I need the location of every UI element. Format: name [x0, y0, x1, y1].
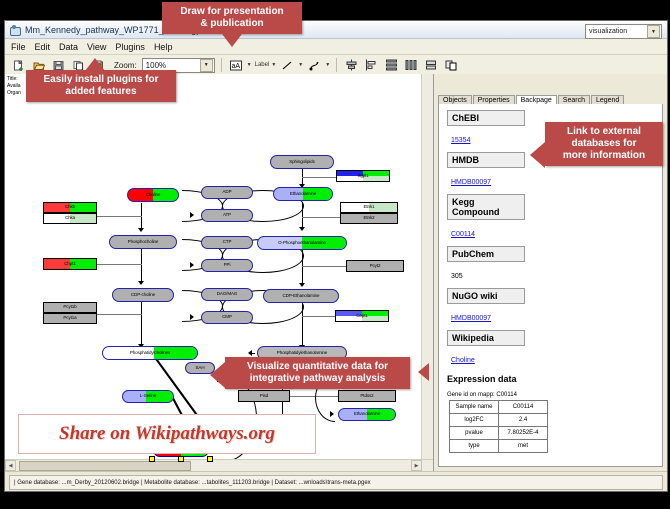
canvas-horizontal-scrollbar[interactable]: ◀ ▶ — [5, 459, 433, 471]
arrow-down-icon — [138, 228, 144, 232]
section-header-chebi: ChEBI — [447, 110, 525, 126]
node-label: ATP — [223, 213, 231, 218]
callout-visualize-line1: Visualize quantitative data for — [232, 361, 403, 373]
callout-share-text: Share on Wikipathways.org — [59, 423, 275, 445]
pathway-organism-label: Organ — [7, 90, 21, 97]
node-label: CTP — [223, 240, 232, 245]
node-pcyt1b[interactable]: Pcyt1b — [43, 302, 97, 313]
line-tool-dropdown[interactable]: ▼ — [279, 57, 303, 74]
node-label: Ethanolamine — [290, 192, 316, 197]
node-label: CDP-choline — [131, 293, 155, 298]
distribute-vertical-icon[interactable] — [383, 57, 400, 74]
node-ptdss2[interactable]: Ptdss2 — [338, 390, 396, 402]
cell-value: 7.80252E-4 — [499, 427, 548, 440]
same-width-icon[interactable] — [423, 57, 440, 74]
callout-draw-line2: & publication — [169, 18, 295, 30]
scroll-left-icon[interactable]: ◀ — [5, 460, 16, 471]
node-label: Etnk2 — [363, 216, 374, 221]
arrow-right-icon — [190, 262, 194, 268]
node-etnk1[interactable]: Etnk1 — [340, 202, 398, 213]
node-o-phosphoethanolamine[interactable]: O-Phosphoethanolamine — [257, 236, 347, 250]
table-row: log2FC 2.4 — [450, 414, 548, 427]
node-ethanolamine-right[interactable]: Ethanolamine — [338, 408, 396, 421]
edge-phosphocholine-spine — [141, 249, 142, 283]
chevron-down-icon[interactable]: ▼ — [647, 25, 660, 38]
node-chkb[interactable]: Chkb — [43, 202, 97, 213]
interaction-icon[interactable] — [306, 57, 323, 74]
link-hmdb[interactable]: HMDB00097 — [451, 179, 491, 186]
node-pcyt1a[interactable]: Pcyt1a — [43, 313, 97, 324]
link-wikipedia[interactable]: Choline — [451, 357, 475, 364]
menu-item-plugins[interactable]: Plugins — [115, 42, 145, 52]
node-cept1[interactable]: Cept1 — [335, 310, 389, 322]
bring-front-icon[interactable] — [443, 57, 460, 74]
cell-value: 2.4 — [499, 414, 548, 427]
section-header-hmdb: HMDB — [447, 152, 525, 168]
callout-links-pointer — [530, 142, 545, 168]
node-label: Cept1 — [356, 314, 368, 319]
pathway-header-labels: Title: Availa Organ — [7, 76, 21, 97]
connector-chpt1 — [97, 264, 142, 265]
node-sgpl1[interactable]: Sgpl1 — [336, 170, 390, 182]
expression-data-title: Expression data — [447, 374, 662, 384]
node-label: CDP-Ethanolamine — [283, 294, 320, 299]
section-header-pubchem: PubChem — [447, 246, 525, 262]
selection-handle[interactable] — [178, 456, 184, 462]
node-label: Ptdss2 — [360, 394, 373, 399]
link-nugo-wiki[interactable]: HMDB00097 — [451, 315, 491, 322]
node-label: Phosphocholine — [128, 240, 159, 245]
status-bar: | Gene database: ...m_Derby_20120602.bri… — [5, 471, 667, 491]
section-header-wikipedia: Wikipedia — [447, 330, 525, 346]
node-l-serine-left[interactable]: L-Serine — [122, 390, 174, 403]
node-cmp[interactable]: CMP — [201, 311, 253, 324]
node-label: Phosphatidylethanolamine — [277, 351, 327, 356]
connector-pcyt1 — [97, 314, 142, 315]
node-label: Chpt1 — [64, 262, 76, 267]
callout-links-line2: databases for — [552, 138, 656, 150]
menu-item-help[interactable]: Help — [154, 42, 173, 52]
visualization-select[interactable]: visualization ▼ — [585, 24, 662, 39]
callout-visualize: Visualize quantitative data for integrat… — [225, 357, 410, 389]
chevron-down-icon[interactable]: ▼ — [325, 62, 330, 68]
node-sphingolipids[interactable]: Sphingolipids — [270, 155, 334, 169]
font-style-icon[interactable]: aA — [228, 57, 245, 74]
node-label: CMP — [222, 315, 232, 320]
node-ctp[interactable]: CTP — [201, 236, 253, 249]
line-icon[interactable] — [279, 57, 296, 74]
node-choline-top[interactable]: Choline — [127, 188, 179, 202]
node-phosphocholine[interactable]: Phosphocholine — [109, 235, 177, 249]
node-label: Choline — [146, 193, 161, 198]
node-label: Chkb — [65, 205, 75, 210]
chevron-down-icon[interactable]: ▼ — [271, 62, 276, 68]
node-pisd[interactable]: Pisd — [238, 390, 290, 402]
arrow-down-icon — [299, 227, 305, 231]
node-label: Sgpl1 — [357, 174, 368, 179]
node-label: PPi — [224, 263, 231, 268]
table-row: pvalue 7.80252E-4 — [450, 427, 548, 440]
node-label: DAG/MAG — [217, 292, 238, 297]
scroll-thumb[interactable] — [19, 461, 191, 471]
section-header-nugo-wiki: NuGO wiki — [447, 288, 525, 304]
arrow-right-icon — [190, 314, 194, 320]
menu-item-data[interactable]: Data — [59, 42, 78, 52]
callout-expression-pointer — [418, 363, 429, 381]
connector-sgpl1 — [302, 177, 337, 178]
callout-draw: Draw for presentation & publication — [162, 2, 302, 34]
node-label: O-Phosphoethanolamine — [278, 241, 326, 246]
callout-visualize-line2: integrative pathway analysis — [232, 373, 403, 385]
node-label: SAH — [196, 366, 205, 371]
distribute-horizontal-icon[interactable] — [403, 57, 420, 74]
scroll-right-icon[interactable]: ▶ — [411, 460, 422, 471]
menu-item-view[interactable]: View — [87, 42, 106, 52]
callout-links-line1: Link to external — [552, 126, 656, 138]
link-kegg[interactable]: C00114 — [451, 231, 475, 238]
cell-label: pvalue — [450, 427, 499, 440]
callout-draw-pointer — [222, 34, 242, 47]
align-center-icon[interactable] — [343, 57, 360, 74]
node-label: Pcyt1b — [63, 305, 76, 310]
interaction-tool-dropdown[interactable]: ▼ — [306, 57, 330, 74]
node-ppi[interactable]: PPi — [201, 259, 253, 272]
node-chka[interactable]: Chka — [43, 213, 97, 224]
menu-item-file[interactable]: File — [11, 42, 26, 52]
table-row: Sample name C00114 — [450, 401, 548, 414]
cell-label: type — [450, 440, 499, 453]
app-icon — [10, 25, 20, 35]
toolbar-separator — [221, 58, 222, 72]
zoom-label: Zoom: — [114, 61, 137, 70]
node-cdp-choline[interactable]: CDP-choline — [112, 288, 174, 302]
menu-bar: File Edit Data View Plugins Help — [5, 39, 667, 55]
callout-plugins-pointer — [85, 58, 105, 71]
callout-links: Link to external databases for more info… — [545, 122, 663, 166]
label-tool-dropdown[interactable]: Label ▼ — [255, 62, 277, 68]
cell-value: met — [499, 440, 548, 453]
status-text: | Gene database: ...m_Derby_20120602.bri… — [9, 475, 663, 490]
label-tool-label: Label — [255, 62, 270, 68]
callout-share: Share on Wikipathways.org — [18, 414, 316, 454]
node-label: Pcyt2 — [370, 264, 381, 269]
node-label: Phosphatidylcholines — [130, 351, 170, 356]
connector-chk — [97, 216, 142, 217]
connector-etnk — [302, 217, 340, 218]
node-ethanolamine-top[interactable]: Ethanolamine — [273, 187, 333, 201]
node-label: Chka — [65, 216, 75, 221]
screenshot-root: Mm_Kennedy_pathway_WP1771_45176.gpml Fil… — [0, 0, 670, 509]
cell-label: log2FC — [450, 414, 499, 427]
callout-links-line3: more information — [552, 150, 656, 162]
pathway-availability-label: Availa — [7, 83, 21, 90]
node-adp[interactable]: ADP — [201, 186, 253, 199]
arrow-right-icon — [190, 212, 194, 218]
callout-draw-line1: Draw for presentation — [169, 6, 295, 18]
menu-item-edit[interactable]: Edit — [35, 42, 51, 52]
callout-plugins: Easily install plugins for added feature… — [26, 70, 176, 102]
connector-cept1 — [302, 316, 336, 317]
zoom-value: 100% — [146, 61, 166, 70]
window-titlebar: Mm_Kennedy_pathway_WP1771_45176.gpml — [5, 21, 667, 39]
node-pcyt2[interactable]: Pcyt2 — [346, 260, 404, 272]
selection-handle[interactable] — [149, 456, 155, 462]
value-pubchem: 305 — [451, 273, 463, 280]
link-chebi[interactable]: 15354 — [451, 137, 470, 144]
node-atp[interactable]: ATP — [201, 209, 253, 222]
font-style-dropdown[interactable]: aA ▼ — [228, 57, 252, 74]
callout-plugins-line2: added features — [33, 86, 169, 98]
node-dagmag[interactable]: DAG/MAG — [201, 288, 253, 301]
node-etnk2[interactable]: Etnk2 — [340, 213, 398, 224]
node-label: ADP — [223, 190, 232, 195]
chevron-down-icon[interactable]: ▼ — [298, 62, 303, 68]
node-label: L-Serine — [140, 394, 156, 399]
arrow-down-icon — [138, 281, 144, 285]
arrow-down-icon — [299, 283, 305, 287]
callout-plugins-line1: Easily install plugins for — [33, 74, 169, 86]
pathway-title-label: Title: — [7, 76, 21, 83]
node-label: Sphingolipids — [289, 160, 314, 165]
node-label: Pisd — [260, 394, 268, 399]
arrow-left-icon — [248, 350, 252, 356]
section-header-kegg: Kegg Compound — [447, 194, 525, 220]
cell-label: Sample name — [450, 401, 499, 414]
gene-id-on-mapp: Gene id on mapp: C00114 — [447, 392, 662, 398]
node-phosphatidylcholines[interactable]: Phosphatidylcholines — [102, 346, 198, 360]
new-document-icon[interactable] — [10, 57, 27, 74]
chevron-down-icon[interactable]: ▼ — [247, 62, 252, 68]
node-label: Etnk1 — [363, 205, 374, 210]
cell-value: C00114 — [499, 401, 548, 414]
node-chpt1[interactable]: Chpt1 — [43, 258, 97, 270]
table-row: type met — [450, 440, 548, 453]
canvas-vertical-scrollbar[interactable] — [421, 74, 433, 460]
toolbar-separator — [336, 58, 337, 72]
align-left-icon[interactable] — [363, 57, 380, 74]
node-cdp-ethanolamine[interactable]: CDP-Ethanolamine — [263, 289, 339, 303]
callout-visualize-pointer — [210, 362, 225, 388]
edge-cdpcholine-spine — [141, 302, 142, 346]
expression-table: Sample name C00114 log2FC 2.4 pvalue 7.8… — [449, 400, 548, 453]
visualization-value: visualization — [589, 28, 627, 35]
chevron-down-icon[interactable]: ▼ — [200, 59, 213, 72]
selection-handle[interactable] — [207, 456, 213, 462]
pathway-canvas[interactable]: Title: Availa Organ — [5, 74, 434, 471]
svg-text:aA: aA — [232, 63, 241, 70]
node-label: Ethanolamine — [354, 412, 380, 417]
connector-pcyt2 — [302, 266, 346, 267]
node-label: Pcyt1a — [63, 316, 76, 321]
